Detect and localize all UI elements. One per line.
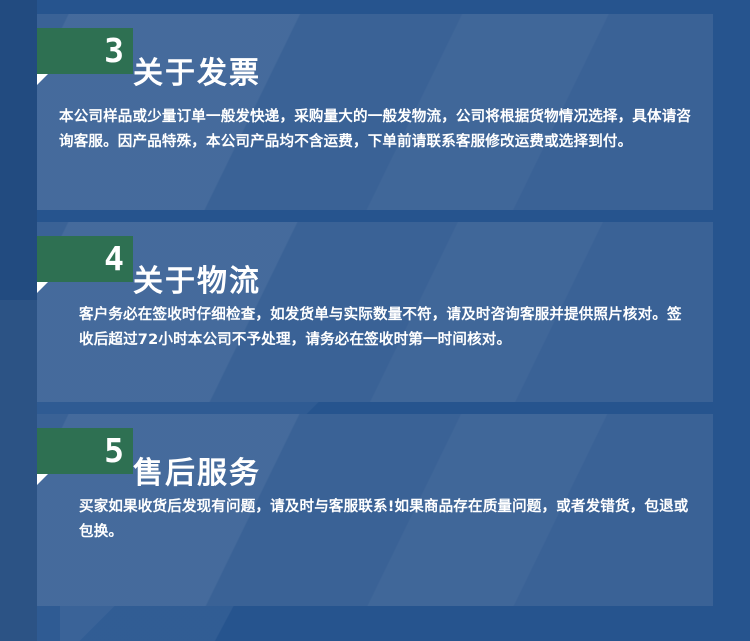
section-body-text: 本公司样品或少量订单一般发快递，采购量大的一般发物流，公司将根据货物情况选择，具… [59,105,697,155]
section-card-invoice: 3 关于发票 本公司样品或少量订单一般发快递，采购量大的一般发物流，公司将根据货… [37,14,713,210]
page-root: 3 关于发票 本公司样品或少量订单一般发快递，采购量大的一般发物流，公司将根据货… [0,0,750,641]
section-card-logistics: 4 关于物流 客户务必在签收时仔细检查，如发货单与实际数量不符，请及时咨询客服并… [37,222,713,402]
section-card-after-sales: 5 售后服务 买家如果收货后发现有问题，请及时与客服联系!如果商品存在质量问题，… [37,414,713,606]
badge-number-label: 4 [104,242,123,275]
section-title: 关于物流 [133,257,261,307]
badge-number-label: 3 [104,34,123,67]
section-title: 售后服务 [133,449,261,499]
badge-tail-icon [37,282,48,293]
left-accent-strip [0,0,37,641]
section-number-badge: 5 [37,428,133,474]
badge-number-label: 5 [104,434,123,467]
badge-tail-icon [37,474,48,485]
section-body-text: 客户务必在签收时仔细检查，如发货单与实际数量不符，请及时咨询客服并提供照片核对。… [79,303,693,353]
section-number-badge: 4 [37,236,133,282]
section-body-text: 买家如果收货后发现有问题，请及时与客服联系!如果商品存在质量问题，或者发错货，包… [79,495,693,545]
section-title: 关于发票 [133,49,261,99]
section-number-badge: 3 [37,28,133,74]
badge-tail-icon [37,74,48,85]
